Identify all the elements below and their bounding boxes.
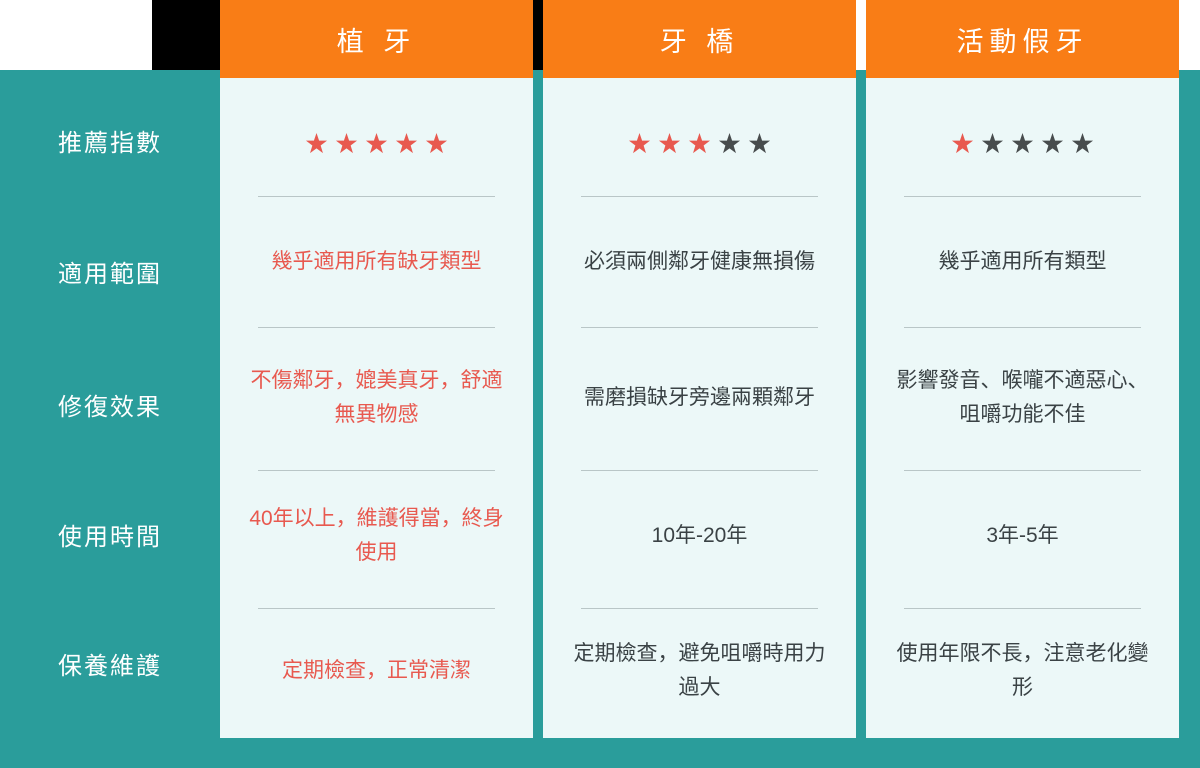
star-rating [866,133,1179,155]
header-gap-block-1 [152,0,220,70]
top-left-blank [0,0,152,70]
cell-divider [258,196,495,197]
cell-divider [581,470,818,471]
cell-maintenance-implant: 定期檢查，正常清潔 [220,618,533,723]
row-label-text: 保養維護 [58,646,162,681]
column-header-denture: 活動假牙 [866,0,1179,78]
cell-text: 幾乎適用所有類型 [939,245,1107,279]
star-filled-icon [396,133,418,155]
header-gap-block-3 [856,0,866,70]
cell-text: 使用年限不長，注意老化變形 [894,637,1151,705]
cell-scope-bridge: 必須兩側鄰牙健康無損傷 [543,208,856,316]
row-label-3: 使用時間 [0,514,220,554]
column-header-bridge: 牙 橋 [543,0,856,78]
cell-divider [258,608,495,609]
star-filled-icon [336,133,358,155]
column-denture[interactable]: 活動假牙 幾乎適用所有類型 影響發音、喉嚨不適惡心、咀嚼功能不佳 3年-5年 使… [866,0,1179,738]
star-empty-icon [1012,133,1034,155]
column-header-text: 活動假牙 [957,20,1089,59]
cell-text: 定期檢查，避免咀嚼時用力過大 [571,637,828,705]
cell-duration-bridge: 10年-20年 [543,478,856,593]
cell-scope-implant: 幾乎適用所有缺牙類型 [220,208,533,316]
cell-stars-denture [866,100,1179,188]
row-label-text: 適用範圍 [58,254,162,289]
star-empty-icon [1042,133,1064,155]
star-rating [220,133,533,155]
row-label-text: 推薦指數 [58,123,162,158]
row-label-text: 使用時間 [58,517,162,552]
row-label-2: 修復效果 [0,384,220,424]
cell-text: 需磨損缺牙旁邊兩顆鄰牙 [584,381,815,415]
cell-text: 影響發音、喉嚨不適惡心、咀嚼功能不佳 [894,364,1151,432]
row-label-1: 適用範圍 [0,251,220,291]
cell-divider [581,608,818,609]
column-body-bridge: 必須兩側鄰牙健康無損傷 需磨損缺牙旁邊兩顆鄰牙 10年-20年 定期檢查，避免咀… [543,78,856,738]
column-header-text: 植 牙 [337,20,417,59]
cell-divider [904,196,1141,197]
cell-text: 定期檢查，正常清潔 [282,654,471,688]
star-filled-icon [306,133,328,155]
cell-divider [258,470,495,471]
column-body-implant: 幾乎適用所有缺牙類型 不傷鄰牙，媲美真牙，舒適無異物感 40年以上，維護得當，終… [220,78,533,738]
cell-duration-denture: 3年-5年 [866,478,1179,593]
cell-text: 幾乎適用所有缺牙類型 [272,245,482,279]
cell-divider [581,327,818,328]
cell-text: 必須兩側鄰牙健康無損傷 [584,245,815,279]
cell-text: 不傷鄰牙，媲美真牙，舒適無異物感 [248,364,505,432]
cell-divider [904,470,1141,471]
comparison-table: 推薦指數 適用範圍 修復效果 使用時間 保養維護 植 牙 幾乎適用所有缺牙類型 … [0,0,1200,768]
cell-divider [904,608,1141,609]
right-teal-band [1179,70,1200,768]
star-rating [543,133,856,155]
star-filled-icon [366,133,388,155]
column-bridge[interactable]: 牙 橋 必須兩側鄰牙健康無損傷 需磨損缺牙旁邊兩顆鄰牙 10年-20年 定期檢查… [543,0,856,738]
cell-stars-implant [220,100,533,188]
cell-maintenance-denture: 使用年限不長，注意老化變形 [866,618,1179,723]
cell-duration-implant: 40年以上，維護得當，終身使用 [220,478,533,593]
row-label-4: 保養維護 [0,643,220,683]
column-implant[interactable]: 植 牙 幾乎適用所有缺牙類型 不傷鄰牙，媲美真牙，舒適無異物感 40年以上，維護… [220,0,533,738]
top-right-blank [1179,0,1200,70]
column-body-denture: 幾乎適用所有類型 影響發音、喉嚨不適惡心、咀嚼功能不佳 3年-5年 使用年限不長… [866,78,1179,738]
cell-effect-implant: 不傷鄰牙，媲美真牙，舒適無異物感 [220,340,533,455]
row-label-text: 修復效果 [58,387,162,422]
bottom-teal-band [0,738,1200,768]
star-empty-icon [749,133,771,155]
cell-text: 40年以上，維護得當，終身使用 [248,502,505,570]
cell-divider [258,327,495,328]
star-filled-icon [689,133,711,155]
column-gap-1 [533,70,543,768]
star-empty-icon [719,133,741,155]
cell-stars-bridge [543,100,856,188]
cell-effect-bridge: 需磨損缺牙旁邊兩顆鄰牙 [543,340,856,455]
cell-effect-denture: 影響發音、喉嚨不適惡心、咀嚼功能不佳 [866,340,1179,455]
column-gap-2 [856,70,866,768]
header-gap-block-2 [533,0,543,70]
column-header-text: 牙 橋 [660,20,740,59]
row-label-0: 推薦指數 [0,120,220,160]
star-filled-icon [659,133,681,155]
cell-divider [581,196,818,197]
cell-text: 3年-5年 [986,519,1058,553]
star-empty-icon [982,133,1004,155]
cell-maintenance-bridge: 定期檢查，避免咀嚼時用力過大 [543,618,856,723]
cell-divider [904,327,1141,328]
star-filled-icon [629,133,651,155]
cell-scope-denture: 幾乎適用所有類型 [866,208,1179,316]
star-filled-icon [426,133,448,155]
star-empty-icon [1072,133,1094,155]
cell-text: 10年-20年 [652,519,748,553]
column-header-implant: 植 牙 [220,0,533,78]
star-filled-icon [952,133,974,155]
